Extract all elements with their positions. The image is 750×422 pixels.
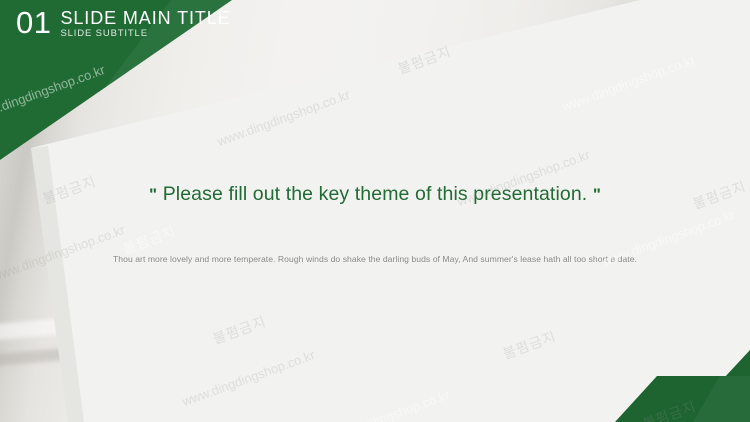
slide-main-title: SLIDE MAIN TITLE — [60, 9, 230, 28]
header-title-stack: SLIDE MAIN TITLE SLIDE SUBTITLE — [60, 7, 230, 40]
slide-subtitle: SLIDE SUBTITLE — [60, 28, 230, 40]
presentation-slide: 01 SLIDE MAIN TITLE SLIDE SUBTITLE " Ple… — [0, 0, 750, 422]
key-theme-quote-text: Please fill out the key theme of this pr… — [163, 183, 588, 205]
body-paragraph: Thou art more lovely and more temperate.… — [0, 253, 750, 266]
quote-close-mark: " — [593, 185, 601, 204]
slide-number: 01 — [16, 7, 51, 38]
quote-open-mark: " — [149, 185, 157, 204]
header-text-group: 01 SLIDE MAIN TITLE SLIDE SUBTITLE — [16, 7, 231, 40]
key-theme-quote: " Please fill out the key theme of this … — [0, 181, 750, 208]
